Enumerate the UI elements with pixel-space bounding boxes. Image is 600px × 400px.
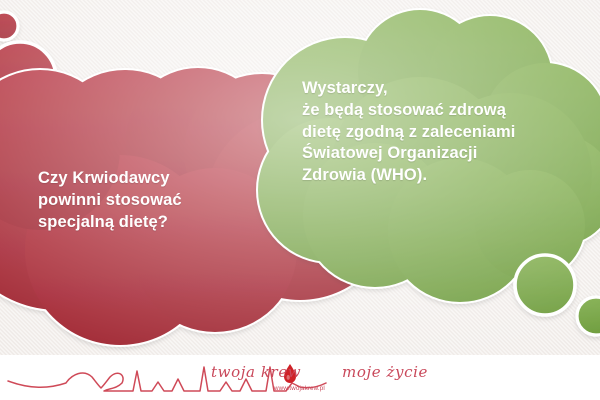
logo-script-text: twoja krew moje życie [211,363,428,381]
logo-script-part-1: twoja krew [211,363,301,381]
question-bubble-text: Czy Krwiodawcy powinni stosować specjaln… [38,168,268,233]
footer-bar: twoja krew moje życie www.twojakrew.pl [0,355,600,400]
answer-bubble-tail-circle-small [577,297,600,335]
logo-website-url[interactable]: www.twojakrew.pl [274,385,325,392]
logo-script-part-2: moje życie [342,363,428,381]
answer-bubble-text: Wystarczy, że będą stosować zdrową dietę… [302,78,582,187]
question-bubble-tail-circle-small [0,12,18,40]
answer-bubble-tail-circle-medium [515,255,575,315]
poster-canvas: Czy Krwiodawcy powinni stosować specjaln… [0,0,600,400]
